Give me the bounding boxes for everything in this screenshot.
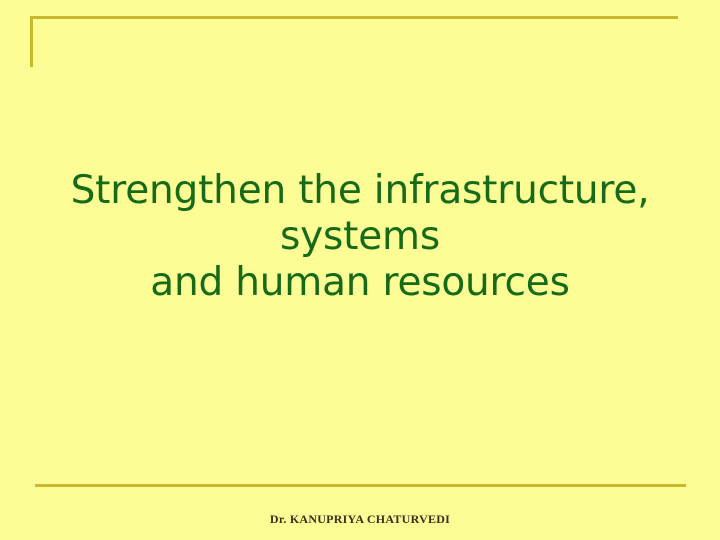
bottom-accent-rule xyxy=(35,484,686,487)
slide-title: Strengthen the infrastructure, systems a… xyxy=(0,168,720,306)
left-accent-rule xyxy=(30,16,33,67)
top-accent-rule xyxy=(30,16,678,19)
footer-author-name: Dr. KANUPRIYA CHATURVEDI xyxy=(270,512,450,527)
slide-title-block: Strengthen the infrastructure, systems a… xyxy=(0,168,720,306)
presentation-slide: Strengthen the infrastructure, systems a… xyxy=(0,0,720,540)
slide-footer-block: Dr. KANUPRIYA CHATURVEDI xyxy=(0,508,720,527)
